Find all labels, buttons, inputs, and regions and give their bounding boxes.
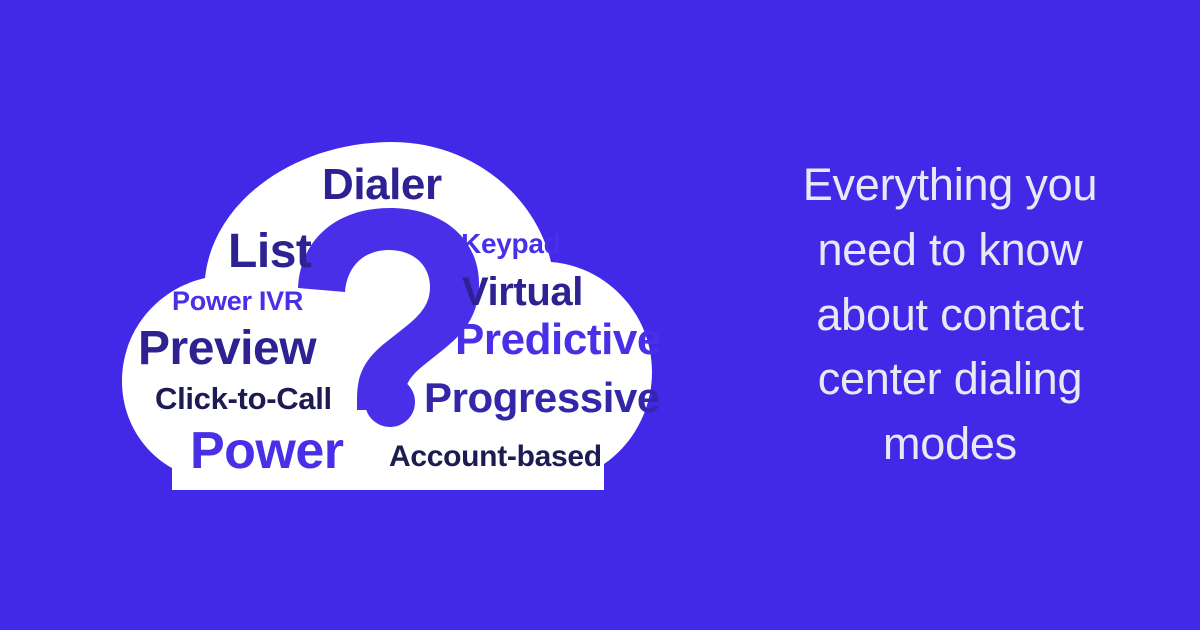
question-mark-dot-icon [365, 377, 415, 427]
word-cloud-item-power-ivr: Power IVR [172, 288, 303, 315]
word-cloud-item-progressive: Progressive [424, 377, 660, 419]
headline-block: Everything youneed to knowabout contactc… [700, 0, 1200, 630]
word-cloud-item-preview: Preview [138, 325, 316, 373]
headline-title: Everything youneed to knowabout contactc… [803, 153, 1098, 477]
word-cloud-item-account-based: Account-based [389, 442, 602, 472]
word-cloud-item-dialer: Dialer [322, 163, 442, 207]
word-cloud-item-click-to-call: Click-to-Call [155, 383, 332, 414]
promo-banner: Dialer List Keypad Power IVR Virtual Pre… [0, 0, 1200, 630]
word-cloud-item-list: List [228, 228, 311, 276]
word-cloud-item-keypad: Keypad [461, 230, 560, 258]
word-cloud-item-power: Power [190, 425, 343, 477]
word-cloud-graphic: Dialer List Keypad Power IVR Virtual Pre… [0, 0, 700, 630]
word-cloud-item-predictive: Predictive [455, 318, 661, 362]
word-cloud-item-virtual: Virtual [462, 272, 583, 312]
